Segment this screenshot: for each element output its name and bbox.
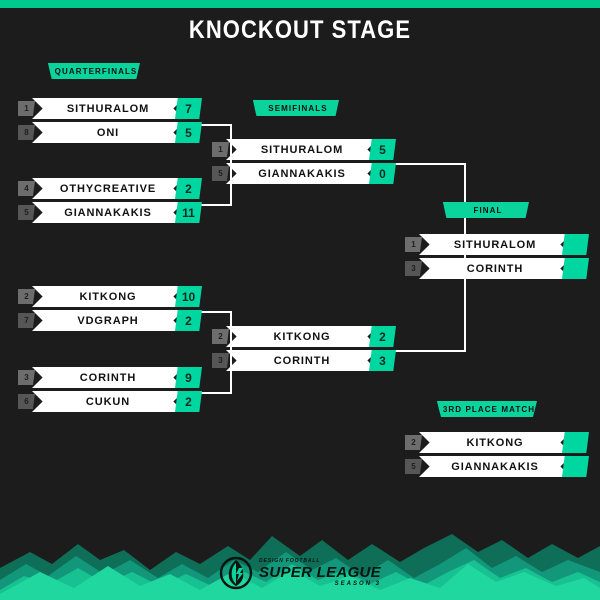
score-box xyxy=(562,432,589,453)
seed-badge: 5 xyxy=(405,459,422,474)
team-name: CORINTH xyxy=(274,355,330,367)
connector-sf-bridge xyxy=(464,163,466,352)
seed-badge: 7 xyxy=(18,313,35,328)
page-title: KNOCKOUT STAGE xyxy=(36,16,564,45)
team-name: GIANNAKAKIS xyxy=(64,207,152,219)
logo-main-line: SUPER LEAGUE xyxy=(259,565,381,580)
banner-tail-icon xyxy=(39,63,51,79)
score-box: 2 xyxy=(175,310,202,331)
team-plate: CORINTH xyxy=(226,350,378,371)
team-plate: ONI xyxy=(32,122,184,143)
team-name: CORINTH xyxy=(467,263,523,275)
team-plate: SITHURALOM xyxy=(226,139,378,160)
team-plate: CORINTH xyxy=(32,367,184,388)
score-box: 3 xyxy=(369,350,396,371)
seed-badge: 1 xyxy=(18,101,35,116)
team-plate: GIANNAKAKIS xyxy=(32,202,184,223)
team-name: GIANNAKAKIS xyxy=(258,168,346,180)
knockout-bracket-page: KNOCKOUT STAGE QUARTERFINALS SEMIFINALS … xyxy=(0,0,600,600)
connector-sf1-out xyxy=(390,163,466,165)
team-name: KITKONG xyxy=(273,331,330,343)
seed-badge: 2 xyxy=(212,329,229,344)
score-box: 9 xyxy=(175,367,202,388)
seed-badge: 3 xyxy=(405,261,422,276)
seed-badge: 1 xyxy=(405,237,422,252)
round-label-quarterfinals: QUARTERFINALS xyxy=(55,67,138,76)
team-name: ONI xyxy=(97,127,119,139)
logo-text-block: DESIGN FOOTBALL SUPER LEAGUE SEASON 3 xyxy=(259,559,381,587)
score-box xyxy=(562,234,589,255)
round-label-final: FINAL xyxy=(473,206,502,215)
score-box: 5 xyxy=(369,139,396,160)
banner-tail-icon xyxy=(244,100,256,116)
banner-tail-icon xyxy=(428,401,440,417)
team-name: KITKONG xyxy=(79,291,136,303)
seed-badge: 8 xyxy=(18,125,35,140)
team-plate: SITHURALOM xyxy=(419,234,571,255)
score-box: 10 xyxy=(175,286,202,307)
score-box: 5 xyxy=(175,122,202,143)
seed-badge: 5 xyxy=(18,205,35,220)
team-plate: CORINTH xyxy=(419,258,571,279)
team-plate: SITHURALOM xyxy=(32,98,184,119)
logo-sub-line: SEASON 3 xyxy=(335,581,381,587)
connector-sf2-out xyxy=(390,350,466,352)
team-name: SITHURALOM xyxy=(454,239,536,251)
seed-badge: 2 xyxy=(18,289,35,304)
team-plate: OTHYCREATIVE xyxy=(32,178,184,199)
team-plate: GIANNAKAKIS xyxy=(226,163,378,184)
seed-badge: 5 xyxy=(212,166,229,181)
seed-badge: 4 xyxy=(18,181,35,196)
round-label-semifinals: SEMIFINALS xyxy=(268,104,327,113)
score-box: 2 xyxy=(175,178,202,199)
seed-badge: 1 xyxy=(212,142,229,157)
team-plate: CUKUN xyxy=(32,391,184,412)
seed-badge: 3 xyxy=(212,353,229,368)
team-name: VDGRAPH xyxy=(77,315,138,327)
team-name: CORINTH xyxy=(80,372,136,384)
round-banner-final: FINAL xyxy=(443,202,529,218)
score-box xyxy=(562,456,589,477)
team-plate: KITKONG xyxy=(32,286,184,307)
score-box: 11 xyxy=(175,202,202,223)
seed-badge: 2 xyxy=(405,435,422,450)
round-banner-quarterfinals: QUARTERFINALS xyxy=(48,63,140,79)
team-name: SITHURALOM xyxy=(67,103,149,115)
team-plate: KITKONG xyxy=(419,432,571,453)
team-plate: GIANNAKAKIS xyxy=(419,456,571,477)
score-box: 7 xyxy=(175,98,202,119)
seed-badge: 3 xyxy=(18,370,35,385)
team-name: KITKONG xyxy=(466,437,523,449)
score-box xyxy=(562,258,589,279)
score-box: 2 xyxy=(175,391,202,412)
score-box: 2 xyxy=(369,326,396,347)
top-accent-bar xyxy=(0,0,600,8)
round-banner-semifinals: SEMIFINALS xyxy=(253,100,339,116)
score-box: 0 xyxy=(369,163,396,184)
team-name: CUKUN xyxy=(86,396,130,408)
team-plate: VDGRAPH xyxy=(32,310,184,331)
banner-tail-icon xyxy=(434,202,446,218)
round-label-third-place: 3RD PLACE MATCH xyxy=(443,405,535,414)
league-logo: DESIGN FOOTBALL SUPER LEAGUE SEASON 3 xyxy=(0,556,600,590)
team-plate: KITKONG xyxy=(226,326,378,347)
round-banner-third-place: 3RD PLACE MATCH xyxy=(437,401,537,417)
seed-badge: 6 xyxy=(18,394,35,409)
shield-emblem-icon xyxy=(219,556,253,590)
team-name: SITHURALOM xyxy=(261,144,343,156)
team-name: OTHYCREATIVE xyxy=(60,183,156,195)
team-name: GIANNAKAKIS xyxy=(451,461,539,473)
